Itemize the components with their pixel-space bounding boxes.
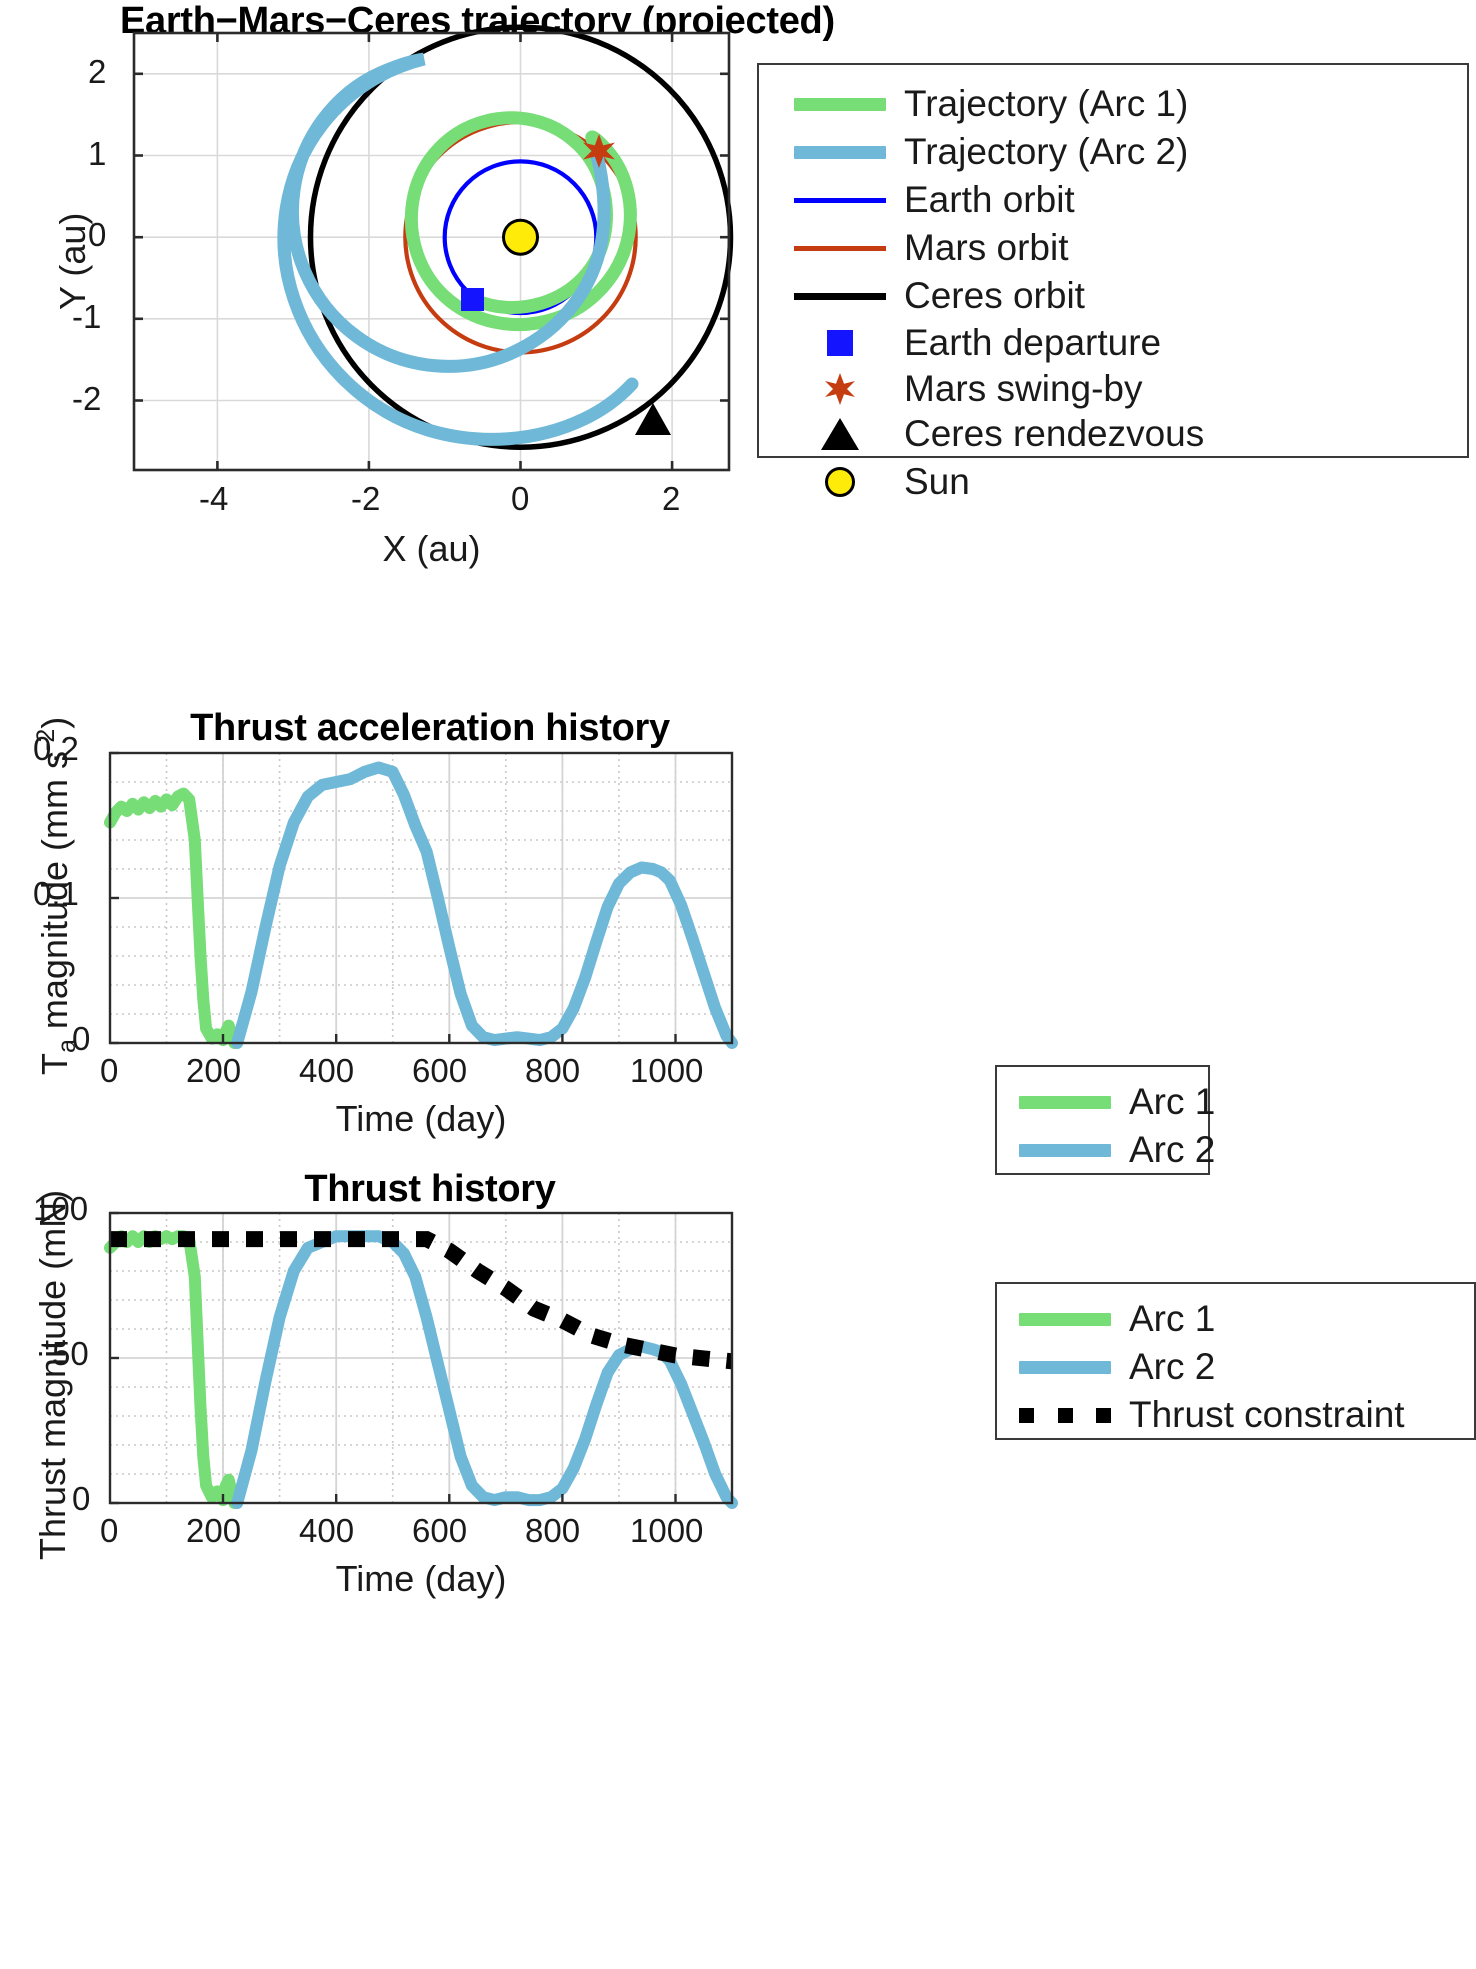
thrust-arc1-curve — [110, 1236, 234, 1503]
legend-row-earth-orbit: Earth orbit — [794, 179, 1075, 221]
thrust-xtick-600: 600 — [412, 1512, 467, 1550]
legend-row-ceres-orbit: Ceres orbit — [794, 275, 1085, 317]
accel-xtick-800: 800 — [525, 1052, 580, 1090]
accel-xtick-200: 200 — [186, 1052, 241, 1090]
thrust-legend-label-constraint: Thrust constraint — [1129, 1394, 1405, 1436]
dot-1 — [1019, 1408, 1034, 1423]
thrust-constraint-key — [1019, 1407, 1111, 1423]
accel-xtick-0: 0 — [100, 1052, 118, 1090]
traj-xtick-m4: -4 — [199, 480, 228, 518]
ceres-orbit-line-key — [794, 293, 886, 300]
accel-arc1-key — [1019, 1096, 1111, 1109]
thrust-xtick-0: 0 — [100, 1512, 118, 1550]
accel-xtick-1000: 1000 — [630, 1052, 703, 1090]
trajectory-axes — [134, 33, 729, 470]
thrust-legend-row-arc1: Arc 1 — [1019, 1298, 1215, 1340]
legend-label-mars-orbit: Mars orbit — [904, 227, 1068, 269]
legend-row-arc1: Trajectory (Arc 1) — [794, 83, 1188, 125]
accel-yaxis-tail: ) — [34, 717, 75, 729]
accel-yaxis-rest: magnitude (mm s — [34, 751, 75, 1039]
thrust-arc1-key — [1019, 1313, 1111, 1326]
accel-axes — [110, 753, 732, 1043]
thrust-legend: Arc 1 Arc 2 Thrust constraint — [995, 1282, 1476, 1440]
ceres-rendezvous-key — [794, 418, 886, 450]
traj-xtick-m2: -2 — [351, 480, 380, 518]
legend-label-arc2: Trajectory (Arc 2) — [904, 131, 1188, 173]
arc1-line-key — [794, 98, 886, 111]
thrust-arc2-key — [1019, 1361, 1111, 1374]
traj-ytick-1: 1 — [88, 135, 106, 173]
thrust-title: Thrust history — [110, 1168, 750, 1211]
accel-arc1-curve — [110, 794, 234, 1043]
traj-xaxis-title: X (au) — [134, 528, 729, 570]
thrust-acceleration-panel: Thrust acceleration history — [0, 700, 1476, 1140]
accel-legend-label-arc1: Arc 1 — [1129, 1081, 1215, 1123]
thrust-axes — [110, 1213, 732, 1503]
traj-ytick-m2: -2 — [72, 380, 101, 418]
thrust-xaxis-title: Time (day) — [110, 1558, 732, 1600]
accel-yaxis-subscript: a — [53, 1039, 81, 1053]
dot-2 — [1058, 1408, 1073, 1423]
square-marker-icon — [827, 330, 853, 356]
legend-label-mars-swingby: Mars swing-by — [904, 368, 1143, 410]
thrust-legend-label-arc2: Arc 2 — [1129, 1346, 1215, 1388]
legend-label-arc1: Trajectory (Arc 1) — [904, 83, 1188, 125]
accel-yaxis-symbol: T — [34, 1053, 75, 1075]
traj-yaxis-title: Y (au) — [52, 213, 94, 310]
accel-xtick-600: 600 — [412, 1052, 467, 1090]
accel-xtick-400: 400 — [299, 1052, 354, 1090]
star-marker-icon — [823, 372, 857, 406]
thrust-legend-row-constraint: Thrust constraint — [1019, 1394, 1405, 1436]
thrust-legend-label-arc1: Arc 1 — [1129, 1298, 1215, 1340]
accel-yaxis-title: Ta magnitude (mm s-2) — [32, 717, 82, 1075]
thrust-xtick-200: 200 — [186, 1512, 241, 1550]
traj-ytick-2: 2 — [88, 53, 106, 91]
thrust-canvas — [110, 1213, 732, 1503]
sun-key — [794, 467, 886, 497]
accel-arc2-curve — [237, 768, 732, 1044]
legend-row-mars-orbit: Mars orbit — [794, 227, 1068, 269]
legend-label-ceres-orbit: Ceres orbit — [904, 275, 1085, 317]
legend-label-sun: Sun — [904, 461, 970, 503]
legend-label-earth-orbit: Earth orbit — [904, 179, 1075, 221]
arc2-trajectory-curve — [284, 59, 632, 439]
accel-canvas — [110, 753, 732, 1043]
accel-yaxis-superscript: -2 — [32, 729, 60, 751]
thrust-xtick-1000: 1000 — [630, 1512, 703, 1550]
legend-label-ceres-rendezvous: Ceres rendezvous — [904, 413, 1204, 455]
thrust-ytick-0: 0 — [72, 1480, 90, 1518]
thrust-yaxis-title: Thrust magnitude (mN) — [32, 1190, 74, 1560]
accel-legend-row-arc1: Arc 1 — [1019, 1081, 1215, 1123]
thrust-xtick-400: 400 — [299, 1512, 354, 1550]
sun-marker — [504, 220, 538, 254]
triangle-marker-icon — [821, 418, 859, 450]
traj-xtick-0: 0 — [511, 480, 529, 518]
trajectory-legend: Trajectory (Arc 1) Trajectory (Arc 2) Ea… — [757, 63, 1469, 458]
earth-departure-marker — [461, 288, 484, 311]
dot-3 — [1096, 1408, 1111, 1423]
arc2-line-key — [794, 146, 886, 159]
thrust-xtick-800: 800 — [525, 1512, 580, 1550]
trajectory-canvas — [134, 33, 729, 470]
grid-lines — [134, 33, 729, 470]
legend-label-earth-departure: Earth departure — [904, 322, 1161, 364]
traj-xtick-2: 2 — [662, 480, 680, 518]
earth-orbit-line-key — [794, 198, 886, 203]
legend-row-arc2: Trajectory (Arc 2) — [794, 131, 1188, 173]
legend-row-mars-swingby: Mars swing-by — [794, 368, 1143, 410]
mars-orbit-line-key — [794, 246, 886, 251]
legend-row-ceres-rendezvous: Ceres rendezvous — [794, 413, 1204, 455]
mars-swingby-key — [794, 372, 886, 406]
sun-marker-icon — [825, 467, 855, 497]
accel-title: Thrust acceleration history — [110, 707, 750, 750]
legend-row-earth-departure: Earth departure — [794, 322, 1161, 364]
legend-row-sun: Sun — [794, 461, 970, 503]
accel-xaxis-title: Time (day) — [110, 1098, 732, 1140]
thrust-legend-row-arc2: Arc 2 — [1019, 1346, 1215, 1388]
earth-departure-key — [794, 330, 886, 356]
